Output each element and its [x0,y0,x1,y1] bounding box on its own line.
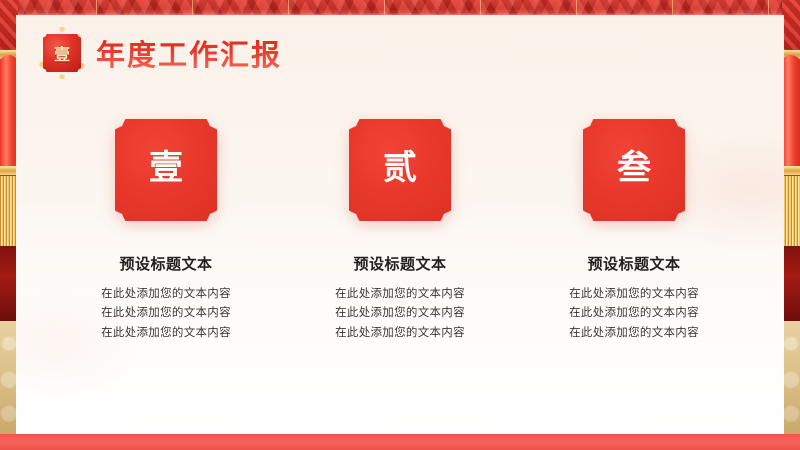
column-body-line: 在此处添加您的文本内容 [101,287,231,301]
content-column-1[interactable]: 壹 预设标题文本 在此处添加您的文本内容 在此处添加您的文本内容 在此处添加您的… [56,119,276,340]
quatrefoil-badge-2[interactable]: 贰 [349,119,451,221]
column-body-line: 在此处添加您的文本内容 [569,287,699,301]
column-body-line: 在此处添加您的文本内容 [101,326,231,340]
content-panel: 壹 年度工作汇报 壹 预设标题文本 在此处添加您的文本内容 在此处添加您的文本内… [16,15,784,434]
three-column-group: 壹 预设标题文本 在此处添加您的文本内容 在此处添加您的文本内容 在此处添加您的… [56,119,744,340]
seal-character: 壹 [39,30,85,76]
quatrefoil-badge-3[interactable]: 叁 [583,119,685,221]
content-column-3[interactable]: 叁 预设标题文本 在此处添加您的文本内容 在此处添加您的文本内容 在此处添加您的… [524,119,744,340]
slide-header: 壹 年度工作汇报 [16,29,282,77]
red-lantern-decoration-right [782,0,800,450]
slide-canvas: 壹 年度工作汇报 壹 预设标题文本 在此处添加您的文本内容 在此处添加您的文本内… [0,0,800,450]
bottom-color-band [0,434,800,450]
quatrefoil-number-label: 叁 [583,119,685,221]
column-body-line: 在此处添加您的文本内容 [569,326,699,340]
column-body: 在此处添加您的文本内容 在此处添加您的文本内容 在此处添加您的文本内容 [101,287,231,340]
column-body: 在此处添加您的文本内容 在此处添加您的文本内容 在此处添加您的文本内容 [335,287,465,340]
lantern-cap-bottom [782,166,800,175]
quatrefoil-number-label: 贰 [349,119,451,221]
column-body-line: 在此处添加您的文本内容 [335,306,465,320]
column-body-line: 在此处添加您的文本内容 [101,306,231,320]
lantern-gold-base [782,321,800,434]
lantern-tassel [782,176,800,246]
column-body: 在此处添加您的文本内容 在此处添加您的文本内容 在此处添加您的文本内容 [569,287,699,340]
seal-badge-icon: 壹 [39,30,85,76]
papercut-pattern-band [0,0,800,16]
page-title: 年度工作汇报 [96,32,282,74]
column-body-line: 在此处添加您的文本内容 [335,287,465,301]
column-body-line: 在此处添加您的文本内容 [569,306,699,320]
quatrefoil-badge-1[interactable]: 壹 [115,119,217,221]
lantern-body [782,55,800,170]
column-title: 预设标题文本 [587,253,680,274]
column-title: 预设标题文本 [119,253,212,274]
column-body-line: 在此处添加您的文本内容 [335,326,465,340]
content-column-2[interactable]: 贰 预设标题文本 在此处添加您的文本内容 在此处添加您的文本内容 在此处添加您的… [290,119,510,340]
lantern-top-pattern [782,0,800,52]
lantern-shadow-section [782,246,800,321]
column-title: 预设标题文本 [353,253,446,274]
quatrefoil-number-label: 壹 [115,119,217,221]
